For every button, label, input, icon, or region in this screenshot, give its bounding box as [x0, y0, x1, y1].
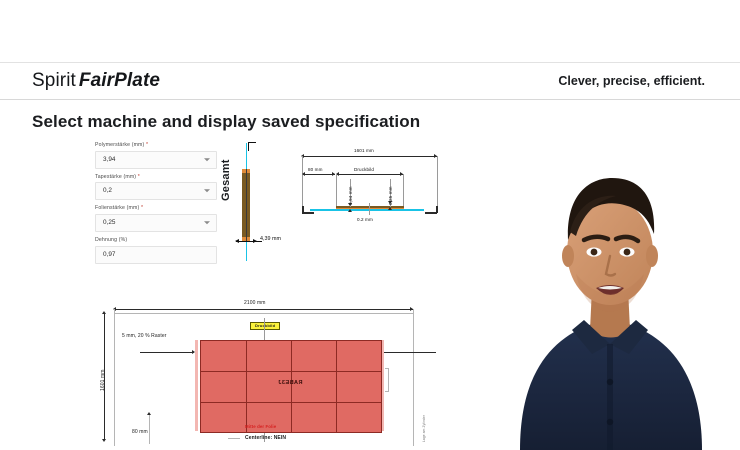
- plate-grid-line-h2: [201, 402, 381, 403]
- left-end-foot: [302, 212, 314, 214]
- field-value-tapestaerke: 0,2: [96, 188, 112, 194]
- plate-body: [200, 340, 382, 433]
- right-leader-line: [382, 352, 436, 353]
- width-dim-line: [114, 309, 414, 310]
- cross-section-stack-label: Gesamt: [220, 159, 232, 201]
- presentation-screen: SpiritFairPlate Clever, precise, efficie…: [0, 0, 740, 450]
- label-text: Polymerstärke (mm): [95, 142, 144, 148]
- field-tapestaerke: Tapestärke (mm) * 0,2: [95, 175, 217, 201]
- input-dehnung[interactable]: 0,97: [95, 246, 217, 264]
- plate-grid-line-h1: [201, 371, 381, 372]
- select-tapestaerke[interactable]: 0,2: [95, 182, 217, 200]
- field-polymerstaerke: Polymerstärke (mm) * 3,94: [95, 143, 217, 169]
- field-value-polymerstaerke: 3,94: [96, 157, 115, 163]
- plate-grid-line-v1: [246, 341, 247, 432]
- centerline-leader: [228, 438, 240, 439]
- height-arrow-up-icon: [102, 311, 106, 314]
- label-text: Dehnung (%): [95, 237, 127, 243]
- film-arrow-up-icon: [388, 207, 392, 210]
- presenter-video-overlay: [480, 148, 740, 450]
- required-marker: *: [141, 205, 143, 211]
- print-area-label: Druckbild: [354, 167, 374, 172]
- top-blank-strip: [0, 0, 740, 62]
- label-text: Folienstärke (mm): [95, 205, 139, 211]
- frame-right: [413, 309, 414, 446]
- bracket-bottom: [385, 391, 389, 392]
- chevron-down-icon[interactable]: [204, 190, 210, 193]
- carrier-film-bottom: [246, 239, 247, 261]
- polymer-arrow-up-icon: [348, 209, 352, 212]
- margin-arrow-right-icon: [332, 172, 335, 176]
- chevron-down-icon[interactable]: [204, 221, 210, 224]
- raster-leader-line: [140, 352, 194, 353]
- left-margin-ext-line: [149, 414, 150, 444]
- app-header: SpiritFairPlate Clever, precise, efficie…: [0, 62, 740, 100]
- overall-width-label: 1601 mm: [354, 148, 374, 153]
- plate-grid-line-v2: [291, 341, 292, 432]
- field-value-folienstaerke: 0,25: [96, 220, 115, 226]
- raster-note-label: 5 mm, 20 % Raster: [122, 333, 167, 339]
- plate-id-mirrored-label: RABE3J: [278, 380, 302, 386]
- plate-layout-drawing: 2100 mm 1601 mm Druckbild 5 mm, 20 % Ras…: [100, 296, 445, 450]
- tape-dim-ext: [369, 203, 370, 215]
- select-polymerstaerke[interactable]: 3,94: [95, 151, 217, 169]
- presenter-avatar: [480, 148, 740, 450]
- field-folienstaerke: Folienstärke (mm) * 0,25: [95, 206, 217, 232]
- page-title: Select machine and display saved specifi…: [32, 112, 420, 132]
- print-area-dim-line: [337, 174, 403, 175]
- tape-thickness-label: 0.2 mm: [357, 217, 373, 222]
- dimension-arrow-left-icon: [235, 239, 239, 243]
- field-dehnung: Dehnung (%) 0,97: [95, 238, 217, 264]
- total-thickness-label: 4,39 mm: [260, 236, 281, 242]
- height-dim-label: 1601 mm: [100, 369, 106, 391]
- frame-top: [114, 313, 414, 314]
- brand-logo: SpiritFairPlate: [32, 70, 160, 92]
- left-margin-arrow-up-icon: [147, 412, 151, 415]
- field-label-tapestaerke: Tapestärke (mm) *: [95, 175, 217, 181]
- select-folienstaerke[interactable]: 0,25: [95, 214, 217, 232]
- right-end-foot: [425, 212, 437, 214]
- plate-edge-left: [195, 340, 198, 431]
- field-label-dehnung: Dehnung (%): [95, 238, 217, 244]
- polymer-arrow-down-icon: [348, 203, 352, 206]
- field-label-folienstaerke: Folienstärke (mm) *: [95, 206, 217, 212]
- centerline-status-label: Centerline: NEIN: [245, 435, 286, 441]
- height-arrow-down-icon: [102, 439, 106, 442]
- width-dim-label: 2100 mm: [244, 300, 266, 306]
- required-marker: *: [138, 174, 140, 180]
- hook-marker-icon: [248, 142, 256, 151]
- specification-form: Polymerstärke (mm) * 3,94 Tapestärke (mm…: [95, 143, 217, 270]
- cross-section-diagram: Gesamt 4,39 mm: [222, 143, 294, 268]
- plan-drawing: 1601 mm 80 mm Druckbild 3,94 mm 0,25 mm: [296, 143, 444, 225]
- brand-name-first: Spirit: [32, 70, 76, 91]
- brand-name-second: FairPlate: [79, 70, 160, 91]
- print-area-badge: Druckbild: [250, 322, 280, 330]
- slab-center-line: [246, 169, 247, 241]
- thickness-dimension-line: [236, 241, 262, 242]
- bracket-side: [388, 368, 389, 392]
- field-value-dehnung: 0,97: [96, 252, 115, 258]
- brand-tagline: Clever, precise, efficient.: [558, 74, 705, 88]
- required-marker: *: [146, 142, 148, 148]
- chevron-down-icon[interactable]: [204, 158, 210, 161]
- cylinder-position-note: Lage am Zylinder: [422, 415, 426, 442]
- margin-dim-line: [303, 174, 335, 175]
- ext-line-left: [302, 156, 303, 211]
- frame-left: [114, 309, 115, 446]
- polymer-layer-strip: [336, 206, 404, 208]
- margin-label: 80 mm: [308, 167, 323, 172]
- center-note-label: Mitte der Folie: [245, 424, 276, 429]
- field-label-polymerstaerke: Polymerstärke (mm) *: [95, 143, 217, 149]
- dimension-arrow-right-icon: [253, 239, 257, 243]
- ext-line-right: [437, 156, 438, 211]
- film-arrow-down-icon: [388, 201, 392, 204]
- label-text: Tapestärke (mm): [95, 174, 136, 180]
- tape-layer-strip: [336, 208, 404, 209]
- left-margin-label: 80 mm: [132, 429, 148, 435]
- overall-width-dim-line: [302, 156, 438, 157]
- plate-grid-line-v3: [336, 341, 337, 432]
- margin-arrow-left-icon: [302, 172, 305, 176]
- film-layer-strip: [310, 209, 424, 211]
